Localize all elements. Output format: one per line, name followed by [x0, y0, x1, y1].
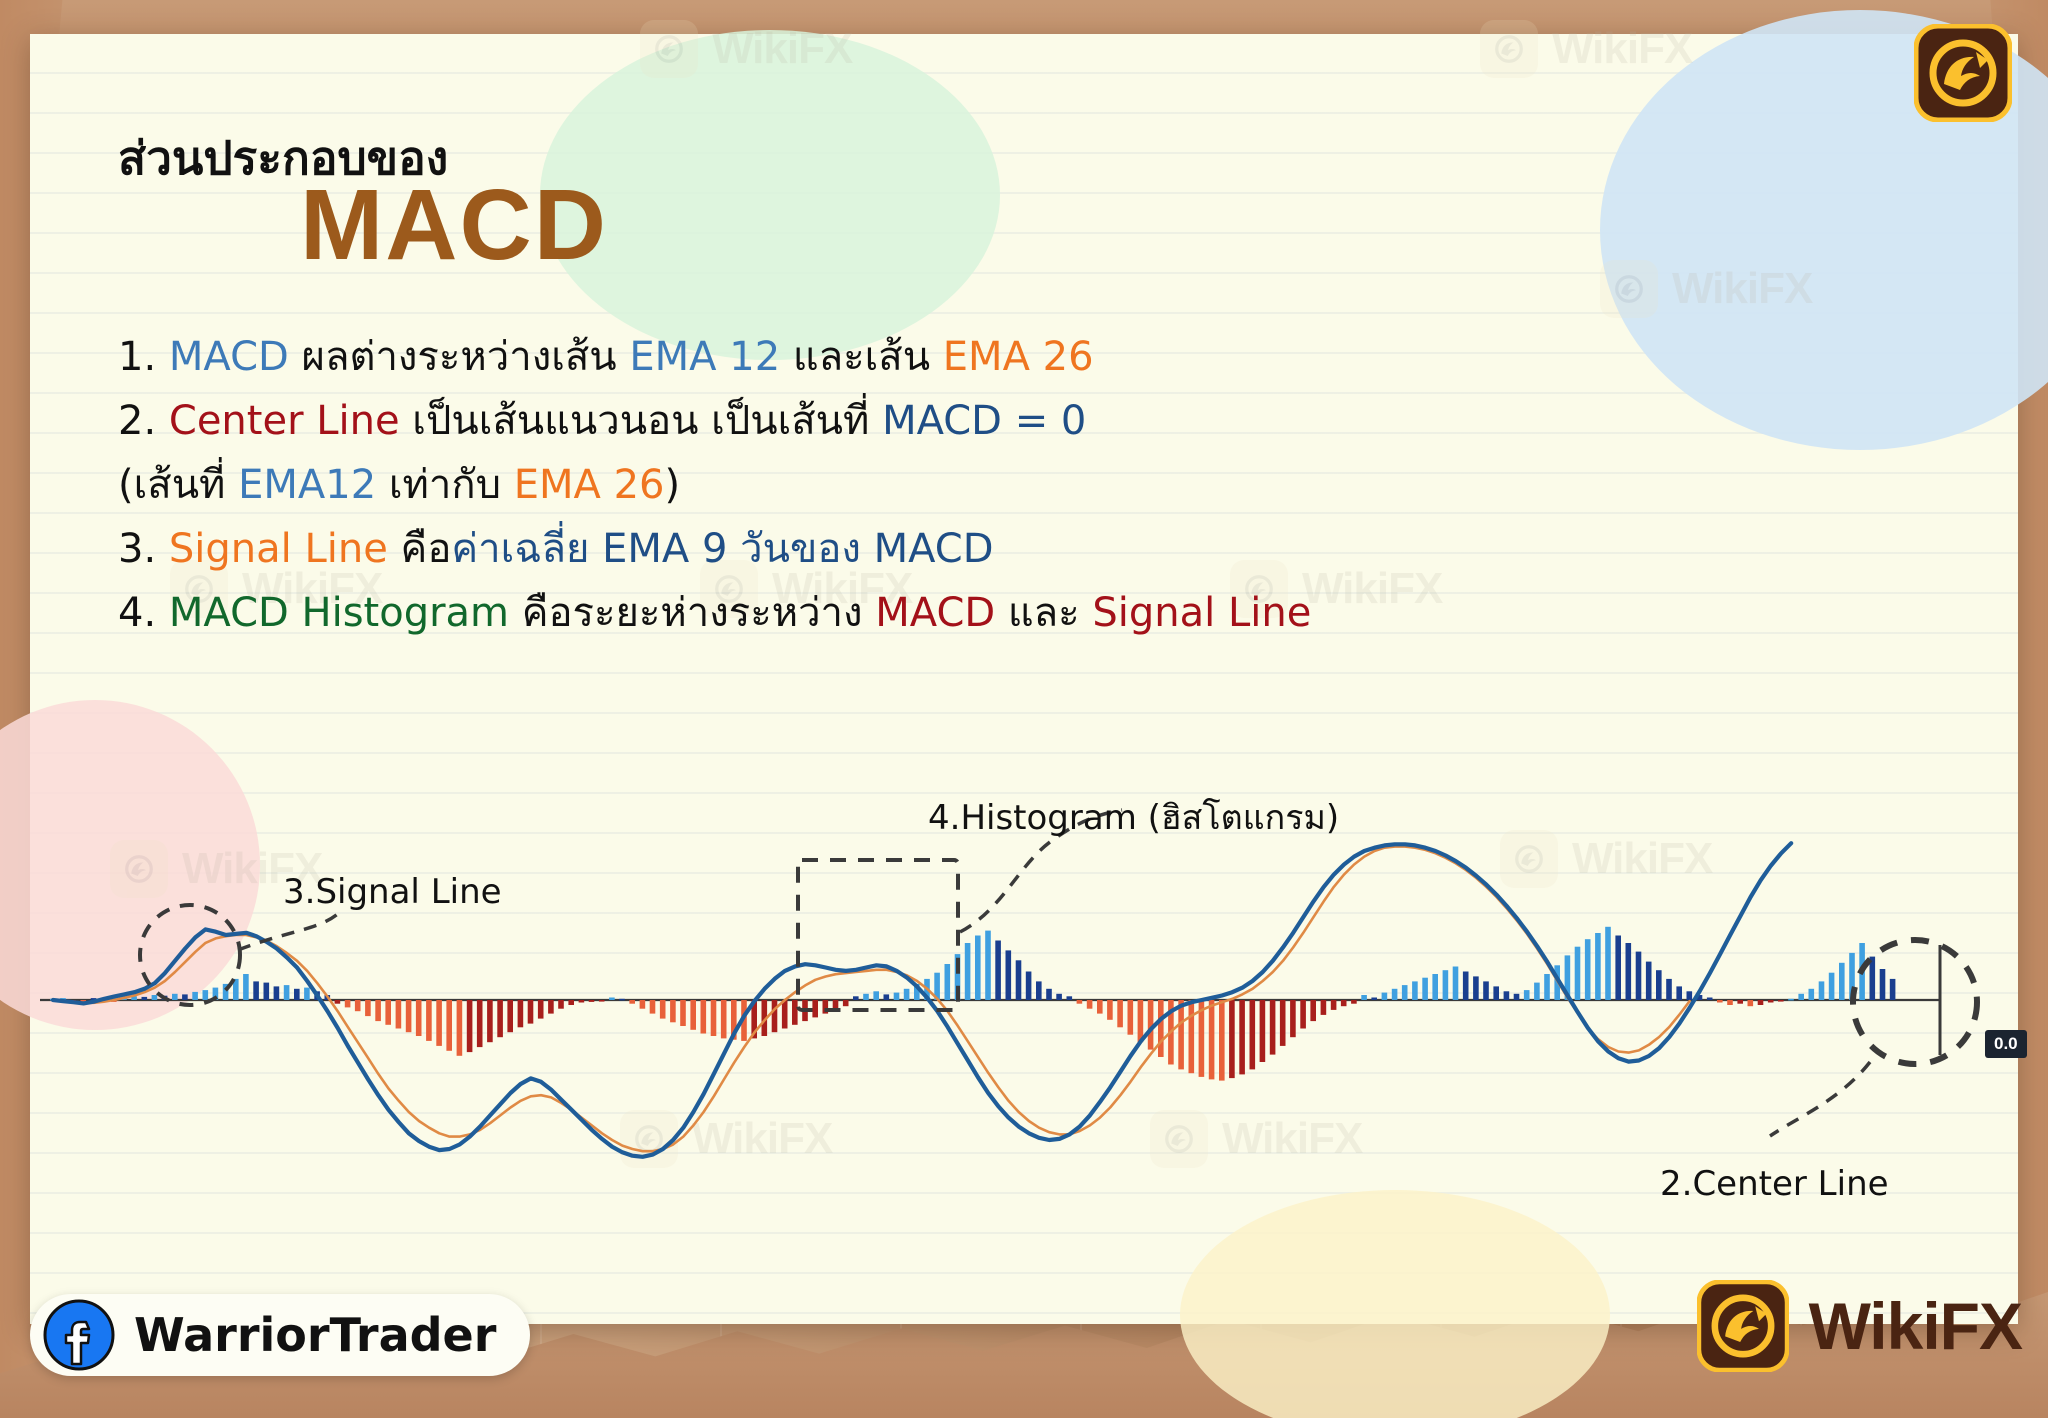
leader-line-signal: [238, 912, 340, 950]
histogram-bar: [629, 1000, 635, 1004]
histogram-bar: [1107, 1000, 1113, 1020]
histogram-bar: [1646, 962, 1652, 1000]
histogram-bar: [467, 1000, 473, 1052]
histogram-bar: [528, 1000, 534, 1024]
histogram-bar: [1026, 972, 1032, 1001]
histogram-bar: [507, 1000, 513, 1032]
text-segment: ผลต่างระหว่างเส้น: [289, 334, 630, 380]
text-segment: Center Line: [169, 398, 400, 444]
histogram-bar: [1839, 963, 1845, 1000]
definition-line: 2. Center Line เป็นเส้นแนวนอน เป็นเส้นที…: [118, 389, 1518, 453]
histogram-bar: [1727, 1000, 1733, 1005]
histogram-bar: [1056, 994, 1062, 1000]
histogram-bar: [1016, 960, 1022, 1000]
annotation-histogram: 4.Histogram (ฮิสโตแกรม): [928, 790, 1339, 844]
histogram-bar: [863, 994, 869, 1000]
text-segment: และเส้น: [780, 334, 943, 380]
histogram-bar: [1483, 981, 1489, 1000]
histogram-bar: [1819, 981, 1825, 1000]
histogram-bar: [1036, 981, 1042, 1000]
text-segment: คือ: [388, 526, 452, 572]
text-segment: 4.: [118, 590, 169, 636]
histogram-bar: [1798, 994, 1804, 1000]
histogram-bar: [1768, 1000, 1774, 1003]
definition-line: 1. MACD ผลต่างระหว่างเส้น EMA 12 และเส้น…: [118, 325, 1518, 389]
text-segment: MACD: [169, 334, 289, 380]
annotation-center-line: 2.Center Line: [1660, 1164, 1889, 1204]
histogram-bar: [873, 991, 879, 1000]
text-segment: Signal Line: [169, 526, 388, 572]
histogram-bar: [1514, 994, 1520, 1000]
facebook-page-badge[interactable]: WarriorTrader: [30, 1294, 530, 1376]
histogram-bar: [1138, 1000, 1144, 1042]
histogram-bar: [792, 1000, 798, 1025]
histogram-bar: [690, 1000, 696, 1030]
histogram-bar: [284, 985, 290, 1000]
histogram-bar: [599, 1000, 605, 1002]
definition-line: 3. Signal Line คือค่าเฉลี่ย EMA 9 วันของ…: [118, 517, 1518, 581]
annotation-signal-line: 3.Signal Line: [283, 872, 502, 912]
text-segment: และ: [995, 590, 1092, 636]
histogram-bar: [1504, 991, 1510, 1000]
text-segment: EMA12: [238, 462, 376, 508]
facebook-icon: [42, 1298, 116, 1372]
histogram-bar: [1748, 1000, 1754, 1006]
histogram-bar: [365, 1000, 371, 1016]
histogram-bar: [436, 1000, 442, 1046]
histogram-bar: [497, 1000, 503, 1037]
histogram-bar: [1290, 1000, 1296, 1037]
histogram-bar: [589, 1000, 595, 1002]
histogram-bar: [406, 1000, 412, 1032]
histogram-bar: [1422, 978, 1428, 1000]
histogram-bar: [477, 1000, 483, 1047]
wikifx-brand-footer: WikiFX: [1697, 1280, 2022, 1372]
wikifx-brand-text: WikiFX: [1809, 1288, 2022, 1364]
histogram-bar: [1880, 969, 1886, 1000]
histogram-bar: [355, 1000, 361, 1011]
histogram-bar: [1534, 983, 1540, 1000]
histogram-bar: [1432, 974, 1438, 1000]
histogram-bar: [721, 1000, 727, 1038]
histogram-bar: [345, 1000, 351, 1007]
text-segment: EMA 26: [514, 462, 665, 508]
histogram-bar: [1046, 989, 1052, 1000]
histogram-bar: [1829, 973, 1835, 1000]
histogram-bar: [1453, 967, 1459, 1001]
wikifx-logo-top-right: [1914, 24, 2012, 127]
decorative-blob-green: [540, 30, 1000, 360]
text-segment: MACD: [875, 590, 995, 636]
histogram-bar: [1473, 976, 1479, 1000]
text-segment: เท่ากับ: [376, 462, 514, 508]
histogram-bar: [670, 1000, 676, 1022]
histogram-bar: [619, 999, 625, 1001]
histogram-bar: [1331, 1000, 1337, 1010]
histogram-bar: [1402, 985, 1408, 1000]
histogram-bar: [1544, 974, 1550, 1000]
leader-line-center: [1770, 1062, 1870, 1136]
histogram-bar: [416, 1000, 422, 1036]
histogram-bar: [985, 931, 991, 1000]
histogram-bar: [243, 974, 249, 1000]
histogram-bar: [1666, 979, 1672, 1000]
histogram-bar: [1229, 1000, 1235, 1078]
histogram-bar: [375, 1000, 381, 1021]
histogram-bar: [1117, 1000, 1123, 1027]
histogram-bar: [812, 1000, 818, 1017]
histogram-bar: [1067, 996, 1073, 1000]
histogram-bar: [1178, 1000, 1184, 1069]
histogram-bar: [1890, 979, 1896, 1000]
text-segment: 2.: [118, 398, 169, 444]
histogram-bar: [192, 992, 198, 1000]
histogram-bar: [1128, 1000, 1134, 1035]
histogram-bar: [1077, 1000, 1083, 1004]
histogram-bar: [1717, 1000, 1723, 1003]
histogram-bar: [945, 964, 951, 1000]
histogram-bar: [426, 1000, 432, 1041]
histogram-bar: [1382, 993, 1388, 1000]
histogram-bar: [904, 989, 910, 1000]
histogram-bar: [182, 994, 188, 1000]
histogram-bar: [965, 943, 971, 1000]
histogram-bar: [1493, 986, 1499, 1000]
histogram-bar: [772, 1000, 778, 1032]
histogram-bar: [264, 983, 270, 1000]
histogram-bar: [253, 981, 259, 1000]
text-segment: 1.: [118, 334, 169, 380]
histogram-bar: [1778, 1000, 1784, 1002]
histogram-bar: [1605, 927, 1611, 1000]
histogram-bar: [1310, 1000, 1316, 1021]
histogram-bar: [538, 1000, 544, 1019]
histogram-bar: [975, 936, 981, 1001]
page-title: MACD: [300, 168, 608, 283]
text-segment: MACD = 0: [882, 398, 1086, 444]
histogram-bar: [1575, 947, 1581, 1000]
histogram-bar: [1392, 989, 1398, 1000]
histogram-bar: [1158, 1000, 1164, 1057]
histogram-bar: [1280, 1000, 1286, 1046]
infographic-canvas: WikiFXWikiFXWikiFXWikiFXWikiFXWikiFXWiki…: [0, 0, 2048, 1418]
histogram-bar: [446, 1000, 452, 1051]
callout-rect-histogram: [798, 860, 958, 1010]
histogram-bar: [1250, 1000, 1256, 1069]
text-segment: MACD Histogram: [169, 590, 509, 636]
histogram-bar: [1361, 995, 1367, 1000]
histogram-bar: [1737, 1000, 1743, 1004]
histogram-bar: [853, 996, 859, 1000]
histogram-bar: [304, 988, 310, 1000]
histogram-bar: [1087, 1000, 1093, 1009]
histogram-bar: [650, 1000, 656, 1014]
wikifx-logo-icon: [1697, 1280, 1789, 1372]
definition-list: 1. MACD ผลต่างระหว่างเส้น EMA 12 และเส้น…: [118, 325, 1518, 645]
text-segment: (เส้นที่: [118, 462, 238, 508]
histogram-bar: [172, 994, 178, 1000]
histogram-bar: [1809, 989, 1815, 1000]
histogram-bar: [1636, 952, 1642, 1000]
histogram-bar: [1189, 1000, 1195, 1073]
histogram-bar: [1270, 1000, 1276, 1055]
histogram-bar: [1524, 990, 1530, 1000]
histogram-bar: [1687, 991, 1693, 1000]
histogram-bar: [843, 1000, 849, 1006]
histogram-bar: [1351, 1000, 1357, 1004]
histogram-bar: [711, 1000, 717, 1036]
histogram-bar: [995, 941, 1001, 1001]
histogram-bar: [701, 1000, 707, 1034]
histogram-bar: [1006, 950, 1012, 1000]
histogram-bar: [548, 1000, 554, 1014]
histogram-bar: [1097, 1000, 1103, 1014]
histogram-bar: [396, 1000, 402, 1029]
definition-line: 4. MACD Histogram คือระยะห่างระหว่าง MAC…: [118, 581, 1518, 645]
histogram-bar: [1656, 970, 1662, 1000]
text-segment: 3.: [118, 526, 169, 572]
histogram-bar: [335, 1000, 341, 1004]
histogram-bar: [660, 1000, 666, 1019]
histogram-bar: [142, 997, 148, 1000]
histogram-bar: [640, 1000, 646, 1009]
histogram-bar: [1341, 1000, 1347, 1006]
histogram-bar: [1260, 1000, 1266, 1062]
histogram-bar: [1321, 1000, 1327, 1015]
facebook-page-name: WarriorTrader: [134, 1308, 496, 1362]
histogram-bar: [609, 998, 615, 1001]
histogram-bar: [680, 1000, 686, 1026]
histogram-bar: [884, 994, 890, 1000]
histogram-bar: [294, 989, 300, 1000]
histogram-bar: [457, 1000, 463, 1056]
histogram-bar: [1595, 933, 1601, 1000]
histogram-bar: [203, 990, 209, 1000]
histogram-bar: [1615, 936, 1621, 1001]
histogram-bar: [1443, 970, 1449, 1000]
histogram-bar: [385, 1000, 391, 1025]
histogram-bar: [1209, 1000, 1215, 1079]
histogram-bar: [1707, 998, 1713, 1001]
histogram-bar: [1788, 999, 1794, 1001]
histogram-bar: [1758, 1000, 1764, 1005]
text-segment: คือระยะห่างระหว่าง: [509, 590, 875, 636]
histogram-bar: [1300, 1000, 1306, 1029]
histogram-bar: [894, 993, 900, 1000]
histogram-bar: [1219, 1000, 1225, 1081]
text-segment: เป็นเส้นแนวนอน เป็นเส้นที่: [400, 398, 882, 444]
price-tag-label: 0.0: [1985, 1030, 2027, 1058]
histogram-bar: [579, 1000, 585, 1003]
definition-line: (เส้นที่ EMA12 เท่ากับ EMA 26): [118, 453, 1518, 517]
histogram-bar: [1239, 1000, 1245, 1074]
histogram-bar: [782, 1000, 788, 1029]
histogram-bar: [1585, 939, 1591, 1000]
text-segment: Signal Line: [1092, 590, 1311, 636]
histogram-bar: [1626, 943, 1632, 1000]
histogram-bar: [274, 986, 280, 1000]
histogram-bar: [1371, 998, 1377, 1001]
histogram-bar: [1412, 981, 1418, 1000]
histogram-bar: [568, 1000, 574, 1005]
text-segment: EMA 26: [943, 334, 1094, 380]
histogram-bar: [1676, 986, 1682, 1000]
text-segment: ค่าเฉลี่ย EMA 9 วันของ MACD: [451, 526, 993, 572]
histogram-bar: [558, 1000, 564, 1009]
histogram-bar: [518, 1000, 524, 1027]
text-segment: EMA 12: [629, 334, 780, 380]
histogram-bar: [487, 1000, 493, 1042]
histogram-bar: [1463, 972, 1469, 1001]
histogram-bar: [152, 995, 158, 1000]
text-segment: ): [664, 462, 680, 508]
